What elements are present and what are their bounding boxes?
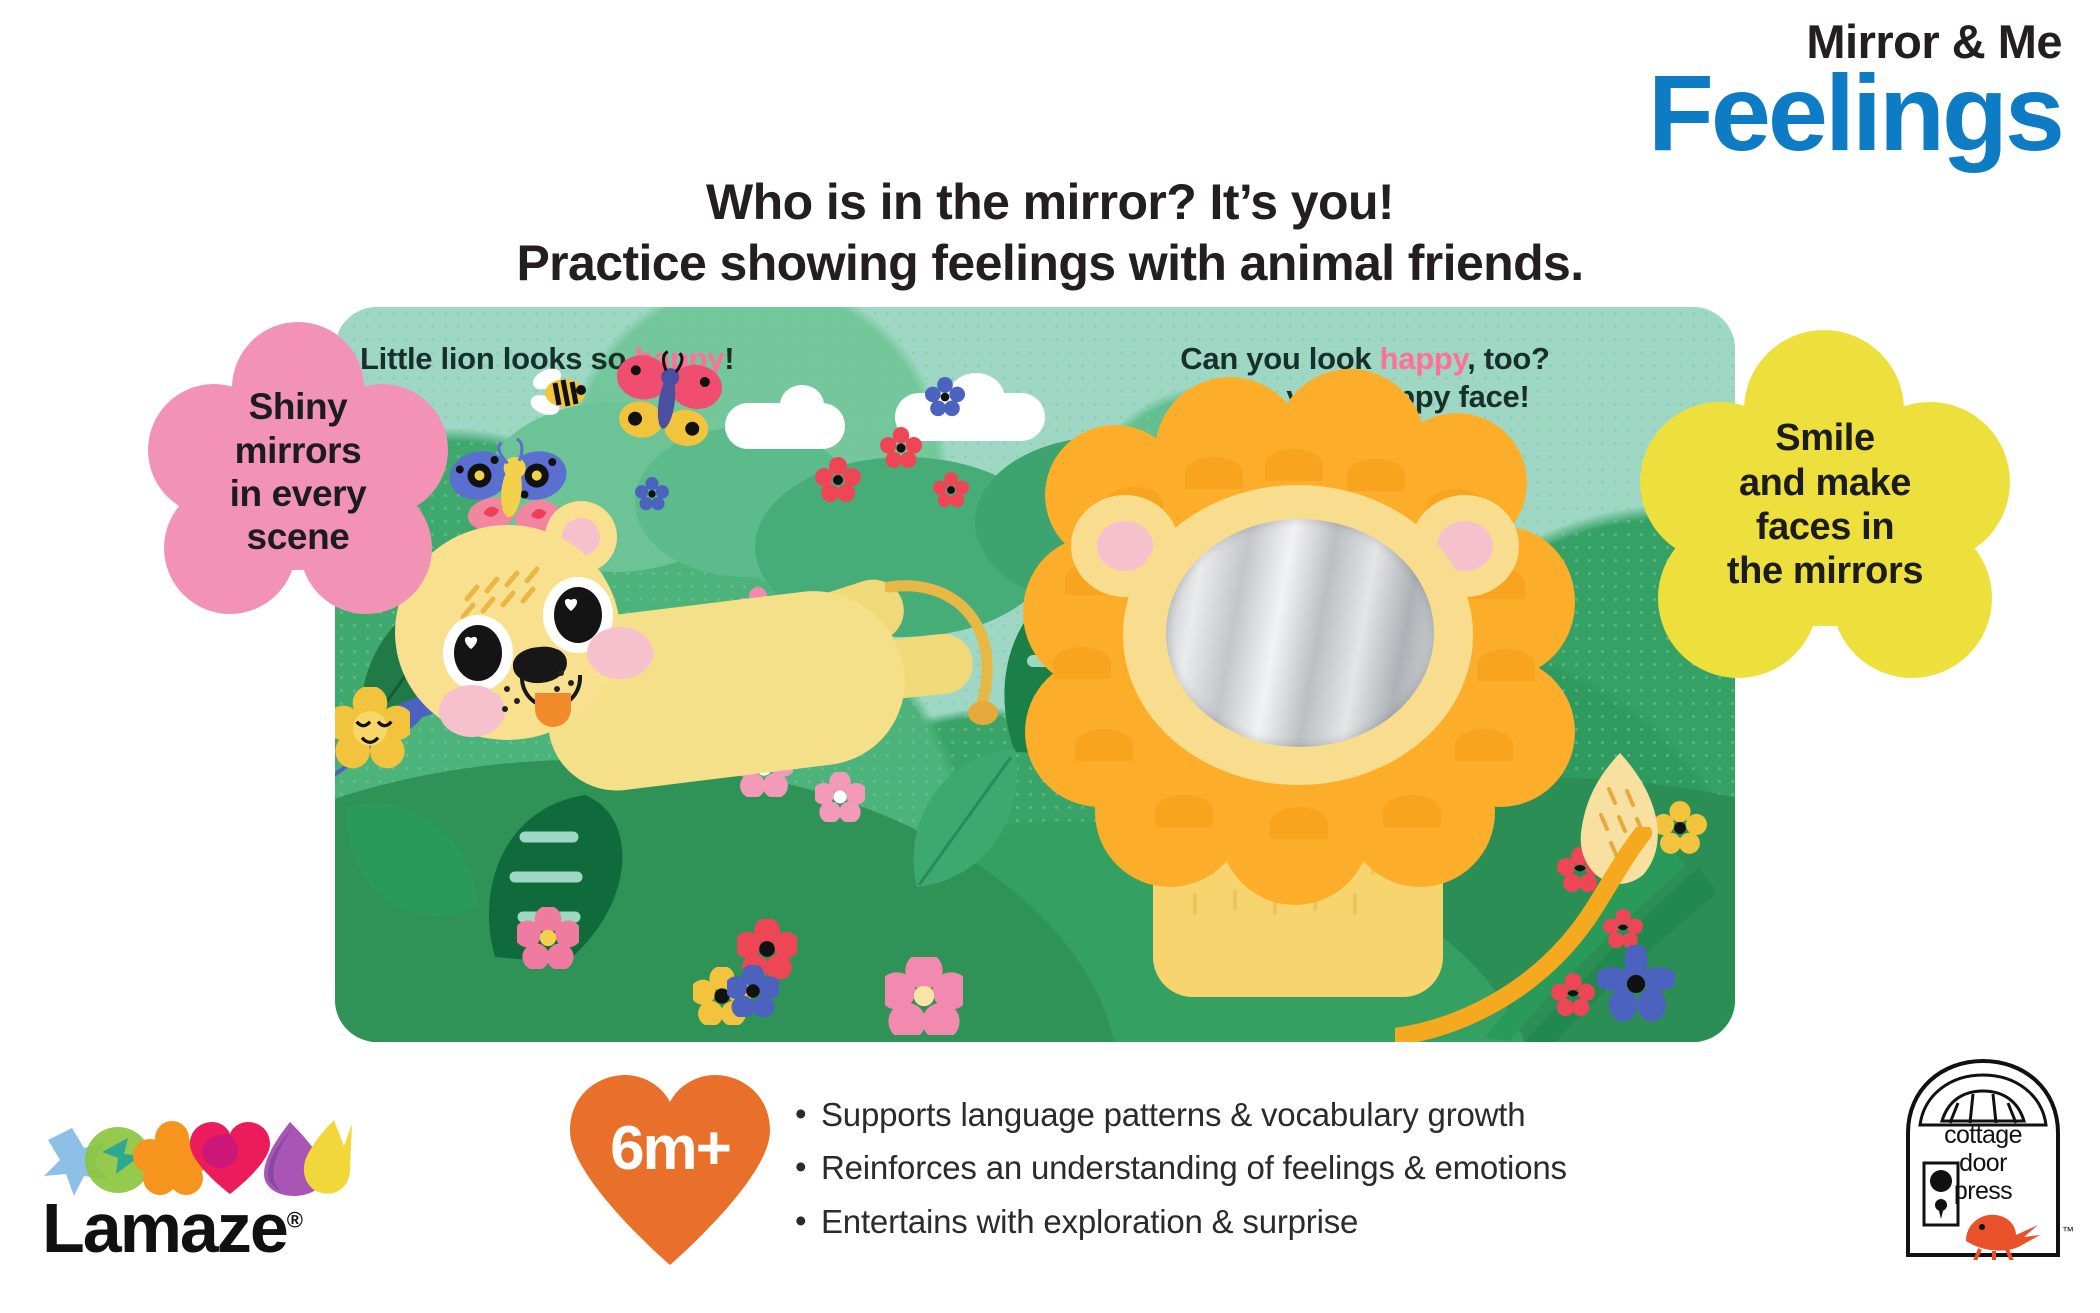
feature-badge-left-text: Shiny mirrors in every scene: [230, 385, 367, 558]
mane-scale: [1265, 449, 1323, 481]
headline: Who is in the mirror? It’s you! Practice…: [0, 172, 2100, 294]
cdp-trademark: ™: [2062, 1224, 2074, 1238]
caption-right-highlight: happy: [1380, 341, 1468, 376]
feature-list-item: Entertains with exploration & surprise: [795, 1195, 1695, 1248]
flower-pink-icon: [885, 957, 963, 1035]
feature-list: Supports language patterns & vocabulary …: [795, 1088, 1695, 1248]
cub-cheek-left: [439, 685, 505, 737]
flower-red-icon: [880, 427, 922, 469]
mane-scale: [1053, 647, 1111, 679]
feature-list-item: Reinforces an understanding of feelings …: [795, 1141, 1695, 1194]
badge-left-line-4: scene: [230, 515, 367, 558]
badge-right-line-3: faces in: [1727, 505, 1923, 549]
mane-scale: [1155, 795, 1213, 827]
feature-list-item: Supports language patterns & vocabulary …: [795, 1088, 1695, 1141]
mane-scale: [1185, 457, 1243, 489]
cdp-line-2: door: [1898, 1149, 2068, 1177]
headline-line-2: Practice showing feelings with animal fr…: [0, 233, 2100, 294]
flower-blue-icon: [727, 965, 779, 1017]
feature-badge-right: Smile and make faces in the mirrors: [1640, 330, 2010, 680]
bee-icon: [521, 363, 593, 423]
cub-tail: [885, 567, 1035, 727]
cottage-door-press-logo: cottage door press ™: [1898, 1055, 2068, 1260]
cub-cheek-right: [587, 627, 653, 679]
flower-blue-icon: [925, 377, 965, 417]
cdp-line-3: press: [1898, 1177, 2068, 1205]
mane-scale: [1347, 459, 1405, 491]
age-badge: 6m+: [570, 1075, 770, 1265]
lion-cub: [395, 507, 955, 837]
caption-right-after: , too?: [1467, 341, 1550, 376]
age-badge-label: 6m+: [570, 1113, 770, 1184]
brand-block: Mirror & Me Feelings: [1648, 18, 2062, 167]
lion-mirror: [1035, 377, 1555, 997]
product-marketing-page: Mirror & Me Feelings Who is in the mirro…: [0, 0, 2100, 1313]
cloud-shape: [725, 403, 845, 449]
mirror-surface: [1166, 519, 1434, 747]
feature-badge-right-text: Smile and make faces in the mirrors: [1727, 416, 1923, 594]
flower-blue-icon: [635, 477, 669, 511]
butterfly-pink-icon: [607, 349, 727, 464]
badge-left-line-3: in every: [230, 472, 367, 515]
mane-scale: [1477, 649, 1535, 681]
mane-scale: [1383, 795, 1441, 827]
badge-left-line-2: mirrors: [230, 429, 367, 472]
lamaze-logo-shapes: [42, 1120, 352, 1198]
badge-right-line-2: and make: [1727, 461, 1923, 505]
lamaze-wordmark: Lamaze®: [42, 1188, 352, 1268]
flower-red-icon: [815, 457, 861, 503]
cub-whisker-dots: [499, 665, 579, 725]
flower-pink-icon: [517, 907, 579, 969]
headline-line-1: Who is in the mirror? It’s you!: [0, 172, 2100, 233]
mane-scale: [1270, 807, 1328, 839]
cdp-line-1: cottage: [1898, 1121, 2068, 1149]
cdp-wordmark: cottage door press: [1898, 1121, 2068, 1205]
lamaze-logo: Lamaze®: [42, 1120, 352, 1265]
badge-right-line-1: Smile: [1727, 416, 1923, 460]
mane-scale: [1075, 729, 1133, 761]
mane-scale: [1455, 729, 1513, 761]
flower-red-icon: [933, 472, 969, 508]
book-spread-image: Little lion looks so happy! Can you look…: [335, 307, 1735, 1042]
badge-right-line-4: the mirrors: [1727, 549, 1923, 593]
feature-badge-left: Shiny mirrors in every scene: [148, 322, 448, 622]
book-title: Feelings: [1648, 59, 2062, 167]
registered-mark: ®: [287, 1208, 301, 1233]
badge-left-line-1: Shiny: [230, 385, 367, 428]
